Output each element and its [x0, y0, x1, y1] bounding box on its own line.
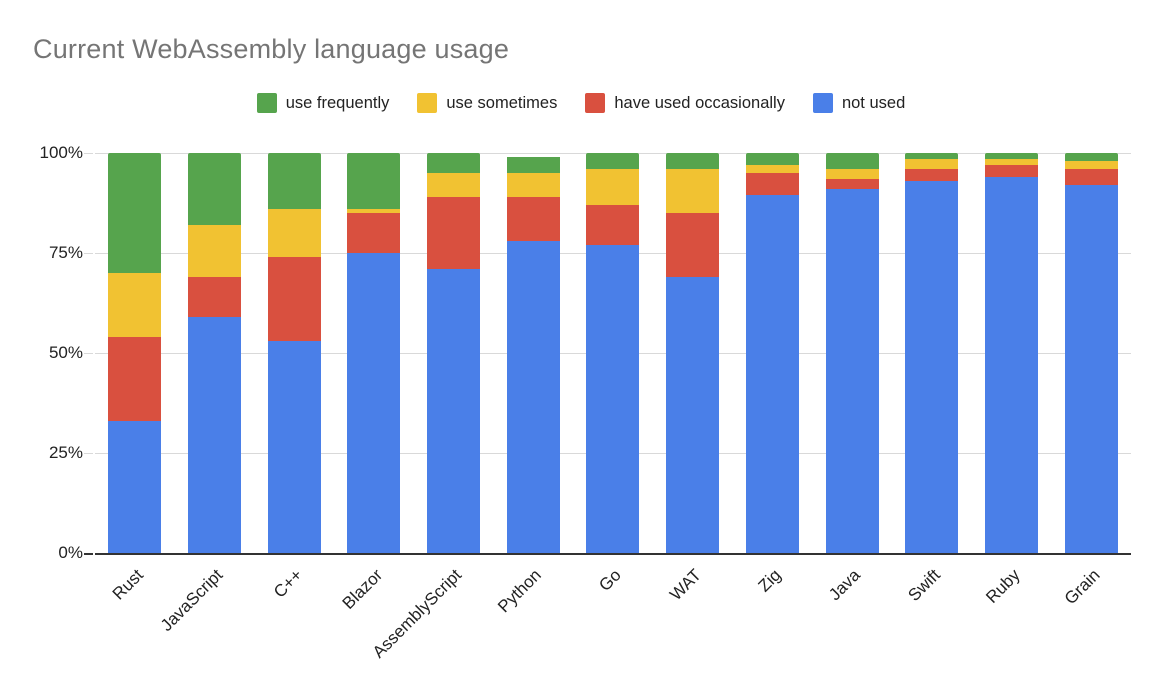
bar-slot: [972, 153, 1052, 553]
legend-item[interactable]: use frequently: [257, 93, 390, 113]
bar-slot: [95, 153, 175, 553]
bar-segment[interactable]: [666, 277, 719, 553]
bar-segment[interactable]: [985, 159, 1038, 165]
bar-segment[interactable]: [108, 273, 161, 337]
bar-group: [95, 153, 1131, 553]
legend-label: use frequently: [286, 94, 390, 113]
x-tick-label: Zig: [754, 565, 785, 596]
legend-swatch-icon: [813, 93, 833, 113]
y-tick-mark: [84, 353, 93, 354]
bar-segment[interactable]: [108, 153, 161, 273]
bar-segment[interactable]: [905, 159, 958, 169]
bar-segment[interactable]: [507, 173, 560, 197]
bar-segment[interactable]: [188, 317, 241, 553]
legend-label: not used: [842, 94, 905, 113]
bar-segment[interactable]: [586, 153, 639, 169]
x-label-slot: Ruby: [972, 556, 1052, 676]
bar-segment[interactable]: [1065, 161, 1118, 169]
bar-segment[interactable]: [268, 257, 321, 341]
bar-segment[interactable]: [746, 195, 799, 553]
bar-segment[interactable]: [507, 197, 560, 241]
bar-segment[interactable]: [507, 241, 560, 553]
bar-slot: [414, 153, 494, 553]
x-label-slot: Zig: [733, 556, 813, 676]
y-tick-mark: [84, 553, 93, 555]
stacked-bar[interactable]: [507, 153, 560, 553]
y-tick-label: 50%: [49, 343, 83, 363]
x-tick-label: Blazor: [338, 565, 386, 613]
bar-slot: [653, 153, 733, 553]
bar-slot: [733, 153, 813, 553]
legend-label: have used occasionally: [614, 94, 785, 113]
x-tick-label: C++: [270, 565, 307, 602]
bar-segment[interactable]: [1065, 169, 1118, 185]
x-axis-labels: RustJavaScriptC++BlazorAssemblyScriptPyt…: [95, 556, 1131, 676]
x-label-slot: Grain: [1051, 556, 1131, 676]
bar-segment[interactable]: [826, 189, 879, 553]
bar-segment[interactable]: [347, 253, 400, 553]
bar-segment[interactable]: [1065, 185, 1118, 553]
x-label-slot: Python: [493, 556, 573, 676]
x-label-slot: Java: [812, 556, 892, 676]
chart-legend: use frequentlyuse sometimeshave used occ…: [0, 93, 1162, 113]
y-tick-label: 25%: [49, 443, 83, 463]
stacked-bar[interactable]: [347, 153, 400, 553]
bar-segment[interactable]: [507, 157, 560, 173]
legend-item[interactable]: have used occasionally: [585, 93, 785, 113]
bar-segment[interactable]: [985, 153, 1038, 159]
chart-container: Current WebAssembly language usage use f…: [0, 0, 1162, 698]
y-tick-mark: [84, 453, 93, 454]
bar-slot: [573, 153, 653, 553]
bar-segment[interactable]: [188, 153, 241, 225]
legend-swatch-icon: [585, 93, 605, 113]
bar-segment[interactable]: [746, 153, 799, 165]
x-label-slot: AssemblyScript: [414, 556, 494, 676]
x-label-slot: WAT: [653, 556, 733, 676]
bar-segment[interactable]: [188, 225, 241, 277]
y-tick-label: 75%: [49, 243, 83, 263]
x-tick-label: Ruby: [982, 565, 1024, 607]
bar-segment[interactable]: [347, 213, 400, 253]
bar-slot: [1051, 153, 1131, 553]
legend-label: use sometimes: [446, 94, 557, 113]
bar-segment[interactable]: [826, 179, 879, 189]
stacked-bar[interactable]: [188, 153, 241, 553]
y-tick-label: 100%: [40, 143, 83, 163]
stacked-bar[interactable]: [985, 153, 1038, 553]
stacked-bar[interactable]: [427, 153, 480, 553]
bar-segment[interactable]: [666, 153, 719, 169]
x-tick-label: Swift: [904, 565, 944, 605]
bar-segment[interactable]: [826, 169, 879, 179]
bar-segment[interactable]: [905, 169, 958, 181]
x-tick-label: Rust: [109, 565, 148, 604]
bar-segment[interactable]: [586, 205, 639, 245]
bar-segment[interactable]: [586, 169, 639, 205]
bar-segment[interactable]: [268, 153, 321, 209]
stacked-bar[interactable]: [1065, 153, 1118, 553]
x-tick-label: Go: [596, 565, 626, 595]
legend-item[interactable]: use sometimes: [417, 93, 557, 113]
bar-segment[interactable]: [1065, 153, 1118, 161]
chart-title: Current WebAssembly language usage: [33, 34, 509, 65]
x-axis-line: [95, 553, 1131, 555]
y-axis-labels: 0%25%50%75%100%: [20, 153, 83, 553]
y-tick-mark: [84, 153, 93, 154]
bar-segment[interactable]: [666, 213, 719, 277]
stacked-bar[interactable]: [905, 153, 958, 553]
stacked-bar[interactable]: [826, 153, 879, 553]
bar-segment[interactable]: [985, 177, 1038, 553]
bar-segment[interactable]: [905, 153, 958, 159]
bar-segment[interactable]: [746, 173, 799, 195]
bar-slot: [254, 153, 334, 553]
legend-swatch-icon: [257, 93, 277, 113]
bar-slot: [493, 153, 573, 553]
x-label-slot: Swift: [892, 556, 972, 676]
bar-segment[interactable]: [427, 269, 480, 553]
bar-segment[interactable]: [985, 165, 1038, 177]
x-label-slot: JavaScript: [175, 556, 255, 676]
bar-segment[interactable]: [666, 169, 719, 213]
x-tick-label: Java: [825, 565, 865, 605]
bar-segment[interactable]: [108, 421, 161, 553]
x-label-slot: Go: [573, 556, 653, 676]
plot-area: [95, 153, 1131, 553]
bar-segment[interactable]: [188, 277, 241, 317]
bar-slot: [334, 153, 414, 553]
bar-segment[interactable]: [905, 181, 958, 553]
bar-segment[interactable]: [427, 173, 480, 197]
bar-segment[interactable]: [347, 153, 400, 209]
stacked-bar[interactable]: [746, 153, 799, 553]
bar-slot: [892, 153, 972, 553]
y-tick-label: 0%: [58, 543, 83, 563]
legend-swatch-icon: [417, 93, 437, 113]
bar-segment[interactable]: [427, 197, 480, 269]
bar-segment[interactable]: [586, 245, 639, 553]
bar-segment[interactable]: [268, 341, 321, 553]
stacked-bar[interactable]: [108, 153, 161, 553]
bar-segment[interactable]: [427, 153, 480, 173]
x-label-slot: C++: [254, 556, 334, 676]
bar-segment[interactable]: [746, 165, 799, 173]
stacked-bar[interactable]: [586, 153, 639, 553]
bar-slot: [175, 153, 255, 553]
stacked-bar[interactable]: [666, 153, 719, 553]
x-tick-label: WAT: [666, 565, 706, 605]
y-tick-mark: [84, 253, 93, 254]
x-tick-label: Python: [494, 565, 546, 617]
x-tick-label: Grain: [1060, 565, 1104, 609]
stacked-bar[interactable]: [268, 153, 321, 553]
bar-segment[interactable]: [826, 153, 879, 169]
legend-item[interactable]: not used: [813, 93, 905, 113]
bar-segment[interactable]: [347, 209, 400, 213]
bar-segment[interactable]: [108, 337, 161, 421]
bar-segment[interactable]: [268, 209, 321, 257]
bar-slot: [812, 153, 892, 553]
